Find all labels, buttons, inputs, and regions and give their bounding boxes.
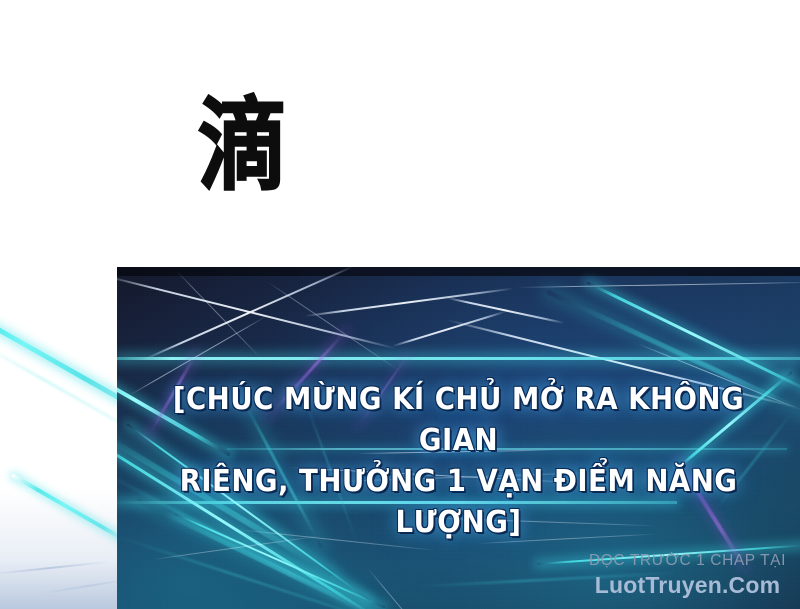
cyan-beam-soft-icon bbox=[117, 417, 336, 577]
shard-line-icon bbox=[267, 281, 400, 371]
cyan-beam-icon bbox=[117, 435, 393, 609]
shard-line-icon bbox=[177, 271, 261, 358]
shard-line-icon bbox=[143, 267, 354, 361]
cyan-horizontal-rule-lower bbox=[227, 448, 787, 450]
artwork-panel: [CHÚC MỪNG KÍ CHỦ MỞ RA KHÔNG GIAN RIÊNG… bbox=[117, 267, 800, 609]
cyan-beam-soft-icon bbox=[136, 497, 372, 609]
cyan-beam-dim-icon bbox=[117, 535, 403, 609]
cyan-beam-icon bbox=[117, 353, 231, 456]
cyan-beam-icon bbox=[676, 371, 793, 469]
shard-line-icon bbox=[637, 343, 800, 412]
cyan-beam-icon bbox=[126, 423, 370, 601]
purple-accent-icon bbox=[675, 458, 747, 570]
cyan-horizontal-rule bbox=[117, 357, 800, 360]
cyan-beam-dim-icon bbox=[117, 467, 398, 609]
shard-line-icon bbox=[367, 567, 458, 609]
shard-line-icon bbox=[357, 450, 557, 455]
cyan-beam-dim-icon bbox=[417, 571, 677, 587]
purple-accent-icon bbox=[146, 351, 198, 439]
purple-accent-icon bbox=[356, 354, 409, 429]
cyan-beam-overflow-upper-icon bbox=[0, 302, 117, 429]
shard-line-icon bbox=[305, 288, 513, 317]
cyan-beam-overflow-upper-haze-icon bbox=[0, 337, 117, 442]
watermark: ĐỌC TRƯỚC 1 CHAP TẠI LuotTruyen.Com bbox=[589, 552, 786, 599]
shard-line-icon bbox=[287, 467, 587, 484]
shard-line-icon bbox=[447, 319, 797, 408]
shard-line-icon bbox=[117, 275, 396, 350]
shard-line-icon bbox=[517, 282, 800, 288]
shard-line-icon bbox=[153, 535, 321, 560]
purple-accent-icon bbox=[266, 328, 349, 419]
cyan-beam-icon bbox=[175, 513, 386, 608]
shard-line-icon bbox=[237, 529, 436, 551]
cyan-beam-soft-icon bbox=[546, 289, 800, 420]
shard-line-icon bbox=[477, 534, 657, 544]
cyan-beam-icon bbox=[537, 543, 800, 565]
cyan-horizontal-rule-bottom bbox=[117, 501, 677, 504]
sound-effect-glyph: 滴 bbox=[198, 96, 287, 196]
cyan-beam-icon bbox=[586, 281, 800, 397]
message-text: [CHÚC MỪNG KÍ CHỦ MỞ RA KHÔNG GIAN RIÊNG… bbox=[144, 379, 772, 543]
cyan-beam-dim-icon bbox=[304, 400, 357, 542]
top-white-area: 滴 bbox=[0, 0, 800, 267]
left-gutter bbox=[0, 267, 117, 609]
cyan-beam-dim-icon bbox=[716, 413, 792, 509]
watermark-site: LuotTruyen.Com bbox=[589, 572, 786, 599]
shard-line-icon bbox=[393, 311, 506, 347]
shard-line-icon bbox=[417, 517, 657, 526]
comic-page: 滴 bbox=[0, 0, 800, 609]
watermark-tagline: ĐỌC TRƯỚC 1 CHAP TẠI bbox=[589, 552, 786, 570]
shard-line-icon bbox=[129, 315, 268, 396]
cyan-beam-soft-icon bbox=[236, 388, 323, 548]
panel-grain-texture bbox=[117, 267, 800, 609]
shard-line-icon bbox=[337, 472, 597, 482]
panel-top-strip bbox=[117, 267, 800, 276]
shard-line-icon bbox=[447, 297, 565, 324]
